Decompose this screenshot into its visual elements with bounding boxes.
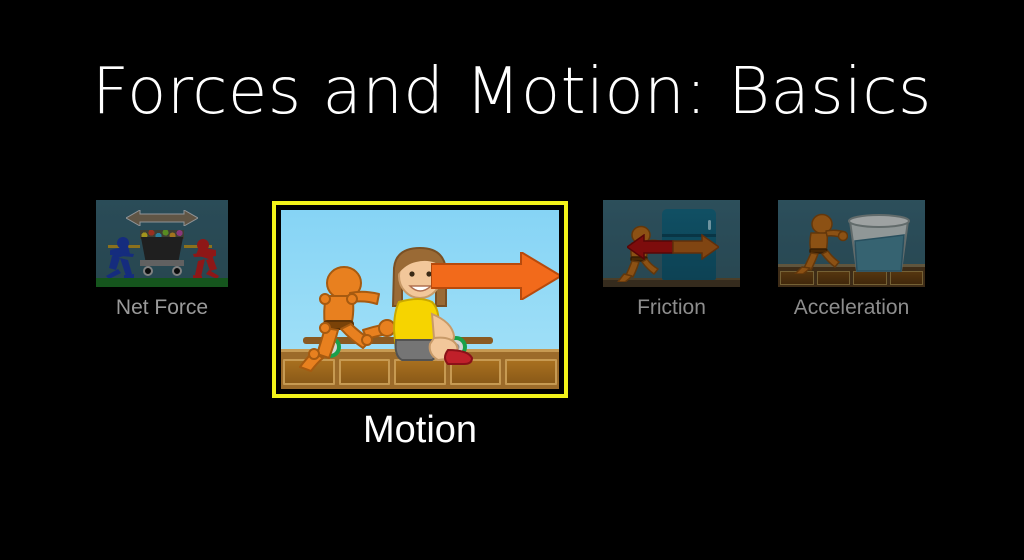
cart-body: [138, 237, 186, 262]
double-headed-arrow-icon: [126, 210, 198, 226]
refrigerator-handle: [708, 220, 711, 230]
screen-tile-label-friction: Friction: [637, 296, 706, 320]
net-force-thumbnail-image[interactable]: [96, 200, 228, 287]
page-title: Forces and Motion: Basics: [0, 56, 1024, 128]
grass-strip: [96, 278, 228, 287]
acceleration-thumbnail-image[interactable]: [778, 200, 925, 287]
screen-tile-label-acceleration: Acceleration: [794, 296, 910, 320]
cart-wheel-left: [143, 266, 153, 276]
screen-tile-label-net-force: Net Force: [116, 296, 208, 320]
screen-tile-label-motion: Motion: [363, 409, 477, 452]
blue-puller-figure: [104, 236, 136, 278]
simulation-home-screen: Forces and Motion: Basics: [0, 0, 1024, 560]
friction-force-arrows-icon: [627, 234, 719, 260]
motion-selection-frame[interactable]: [272, 201, 568, 398]
screen-tile-net-force[interactable]: Net Force: [96, 200, 228, 287]
screen-tile-acceleration[interactable]: Acceleration: [778, 200, 925, 287]
friction-thumbnail-image[interactable]: [603, 200, 740, 287]
mannequin-pusher-figure: [794, 213, 848, 274]
screen-tile-friction[interactable]: Friction: [603, 200, 740, 287]
red-puller-figure: [192, 238, 222, 278]
motion-thumbnail-image[interactable]: [281, 210, 559, 389]
floor-brick: [505, 359, 557, 385]
force-arrow-icon: [431, 252, 559, 300]
water-bucket-object: [846, 213, 912, 274]
cart-wheel-right: [172, 266, 182, 276]
screen-tile-motion[interactable]: Motion: [272, 201, 568, 398]
